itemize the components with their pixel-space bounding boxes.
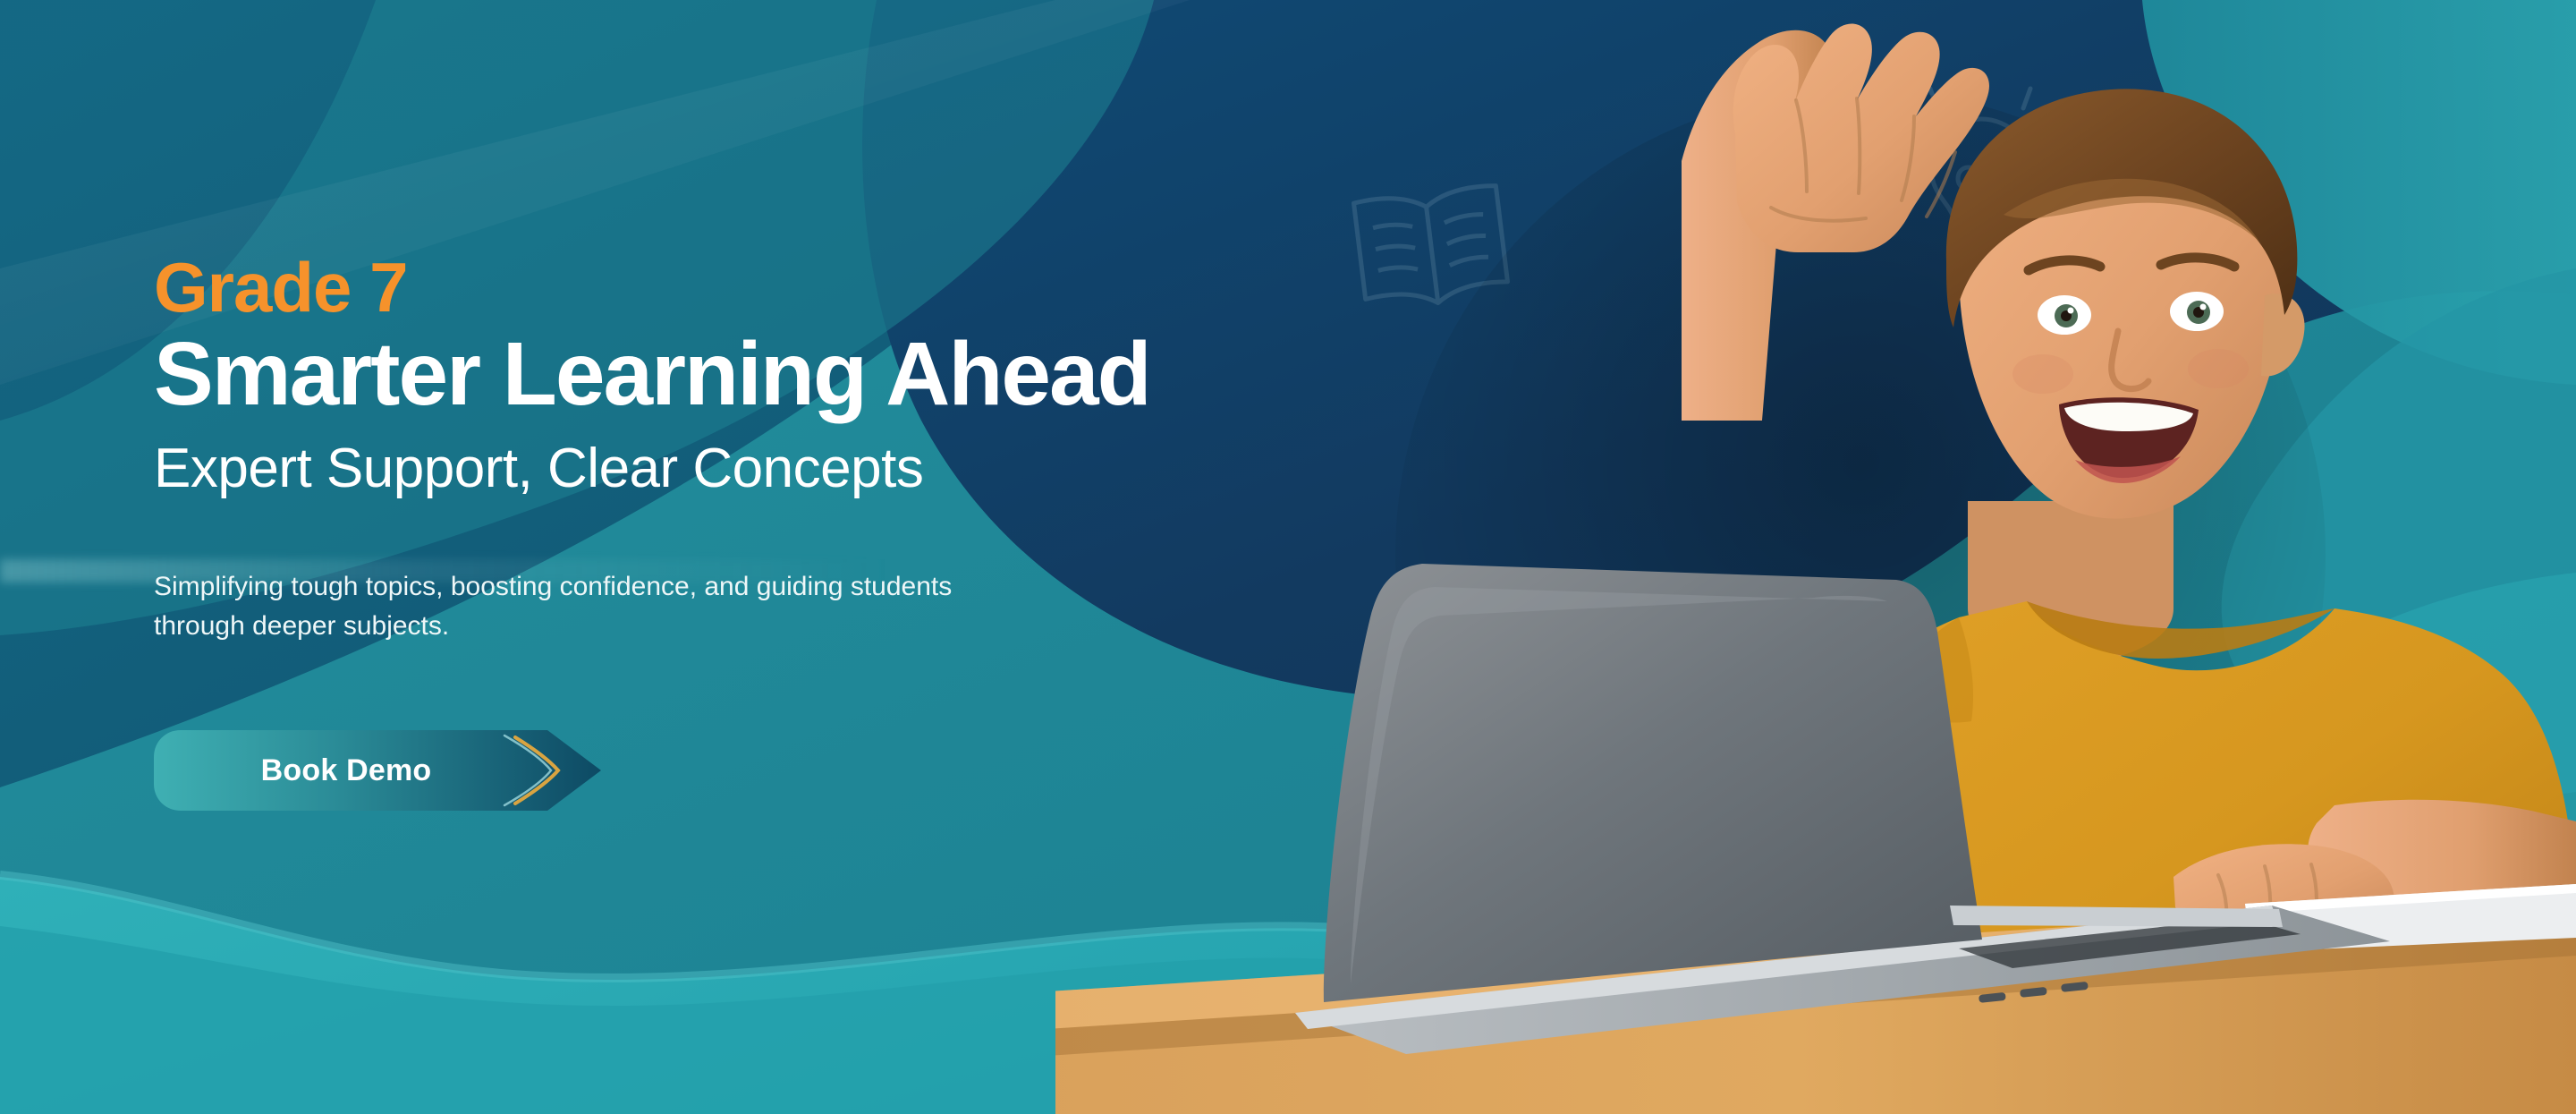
hero-subheadline: Expert Support, Clear Concepts [154, 438, 1549, 499]
hero-copy: Grade 7 Smarter Learning Ahead Expert Su… [154, 252, 1549, 645]
hero-banner: Grade 7 Smarter Learning Ahead Expert Su… [0, 0, 2576, 1114]
book-demo-label[interactable]: Book Demo [154, 730, 538, 811]
grade-eyebrow: Grade 7 [154, 252, 1549, 322]
book-demo-button[interactable]: Book Demo [154, 730, 637, 811]
hero-description: Simplifying tough topics, boosting confi… [154, 567, 959, 645]
page-title: Smarter Learning Ahead [154, 327, 1549, 421]
